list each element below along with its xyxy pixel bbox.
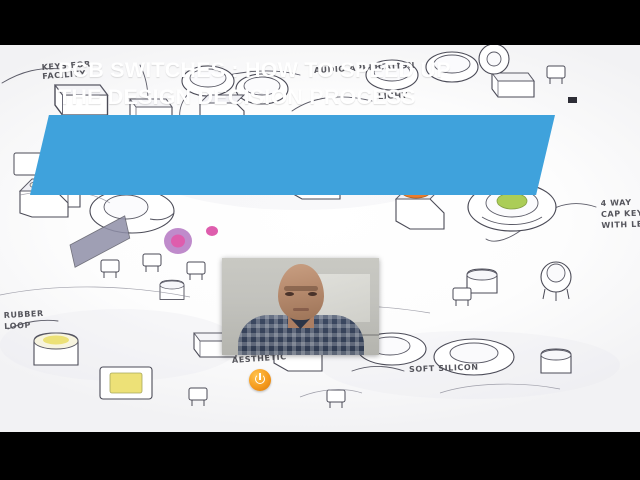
presenter-eyes [285,292,317,296]
power-button-icon [249,369,271,391]
letterbox-bottom-bar [0,432,640,480]
annotation-rubber-loop: RUBBER LOOP [3,308,44,332]
annotation-four-way-cap-key: 4 WAY CAP KEY WITH LED [600,196,640,231]
slide-stage: KEYS FOR FACILITY AUDIO APPLICATION LIGH… [0,45,640,432]
title-banner [30,115,555,195]
video-player-frame: KEYS FOR FACILITY AUDIO APPLICATION LIGH… [0,0,640,480]
letterbox-top-bar [0,0,640,45]
presenter-mouth [293,308,309,311]
presenter-webcam[interactable] [222,258,379,355]
slide-title: PCB SWITCHES : HOW TO SPEED UP THE DESIG… [58,57,616,111]
presenter-brow [284,286,318,291]
